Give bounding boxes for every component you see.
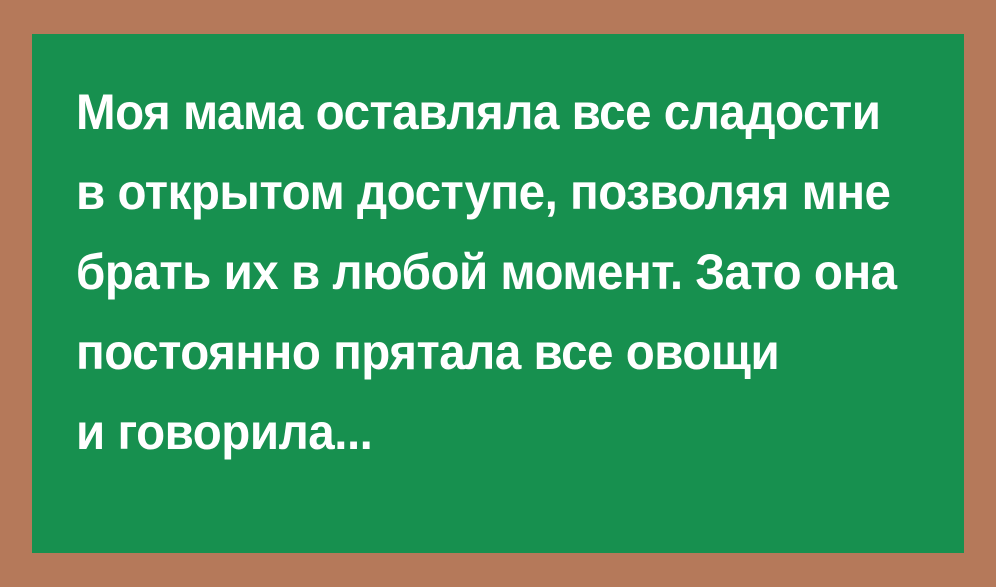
quote-line-2: в открытом доступе, позволяя мне bbox=[76, 152, 878, 232]
meme-card: Моя мама оставляла все сладости в открыт… bbox=[0, 0, 996, 587]
quote-panel: Моя мама оставляла все сладости в открыт… bbox=[32, 34, 964, 553]
quote-line-5: и говорила... bbox=[76, 392, 878, 472]
quote-line-4: постоянно прятала все овощи bbox=[76, 312, 878, 392]
quote-line-3: брать их в любой момент. Зато она bbox=[76, 232, 878, 312]
quote-line-1: Моя мама оставляла все сладости bbox=[76, 72, 878, 152]
